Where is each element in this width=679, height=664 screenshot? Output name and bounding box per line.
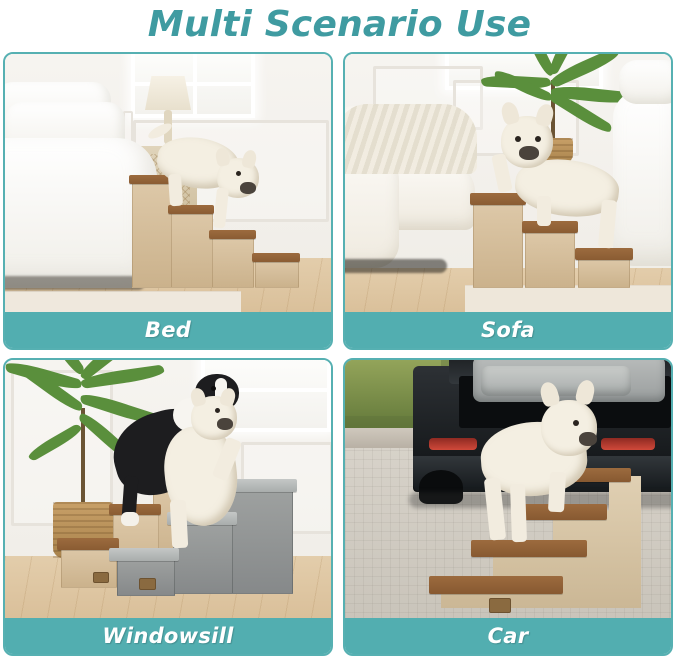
throw-blanket	[345, 104, 477, 174]
dog-snout	[519, 146, 539, 160]
scenario-panel-bed[interactable]: Bed	[3, 52, 333, 350]
collie-paw	[121, 512, 139, 526]
dog-eye-right	[535, 136, 541, 142]
collie-eye	[211, 386, 216, 391]
scene-image-bed	[5, 54, 331, 316]
grey-stair-step-4	[227, 488, 293, 594]
stair-step-4	[132, 180, 172, 288]
stair-tread-2	[471, 540, 587, 557]
scene-image-windowsill	[5, 360, 331, 622]
stair-step-2	[212, 236, 254, 288]
stair-step-3	[171, 210, 213, 288]
grey-stair-tread-2	[109, 548, 179, 561]
page-title: Multi Scenario Use	[0, 0, 679, 48]
brand-logo-tag-2	[139, 578, 156, 590]
stair-tread-3	[168, 205, 214, 214]
dog-snout	[240, 182, 256, 194]
scene-image-sofa	[345, 54, 671, 316]
dog-leg-rear-2	[510, 484, 527, 542]
stair-step-2	[525, 230, 575, 288]
scene-image-car	[345, 360, 671, 622]
dog-snout	[579, 432, 597, 446]
scenario-panel-windowsill[interactable]: Windowsill	[3, 358, 333, 656]
bed-pillow-right	[619, 60, 671, 104]
bed-right	[613, 90, 671, 266]
stair-tread-1	[429, 576, 563, 594]
stair-step-3	[473, 202, 523, 288]
stair-tread-1	[575, 248, 633, 260]
brand-logo-tag	[489, 598, 511, 613]
dog-leg-mid	[537, 196, 551, 226]
brand-logo-tag	[93, 572, 109, 583]
stair-step-1	[578, 258, 630, 288]
scenario-grid: Bed	[3, 52, 676, 662]
tail-light-left	[429, 438, 477, 450]
infographic-page: Multi Scenario Use	[0, 0, 679, 664]
sofa-base-shadow	[345, 259, 447, 273]
dog-head	[541, 400, 597, 456]
panel-caption-car: Car	[345, 618, 671, 654]
panel-caption-sofa: Sofa	[345, 312, 671, 348]
dog-leg-rear	[168, 174, 183, 207]
tail-light-right	[601, 438, 655, 450]
scenario-panel-sofa[interactable]: Sofa	[343, 52, 673, 350]
dog-eye	[573, 420, 579, 426]
dog-leg-front	[548, 472, 566, 513]
stair-tread-1	[252, 253, 300, 262]
scenario-panel-car[interactable]: Car	[343, 358, 673, 656]
grey-stair-step-2	[117, 558, 175, 596]
panel-caption-windowsill: Windowsill	[5, 618, 331, 654]
dog-eye	[215, 408, 220, 413]
dog-leg-rear	[170, 500, 188, 549]
panel-caption-bed: Bed	[5, 312, 331, 348]
stair-step-1	[255, 259, 299, 288]
dog-eye	[236, 171, 241, 176]
bed-shadow	[5, 276, 145, 290]
stair-tread-2	[209, 230, 256, 239]
lamp-shade	[145, 76, 191, 110]
dog-snout	[217, 418, 233, 430]
dog-eye-left	[515, 136, 521, 142]
